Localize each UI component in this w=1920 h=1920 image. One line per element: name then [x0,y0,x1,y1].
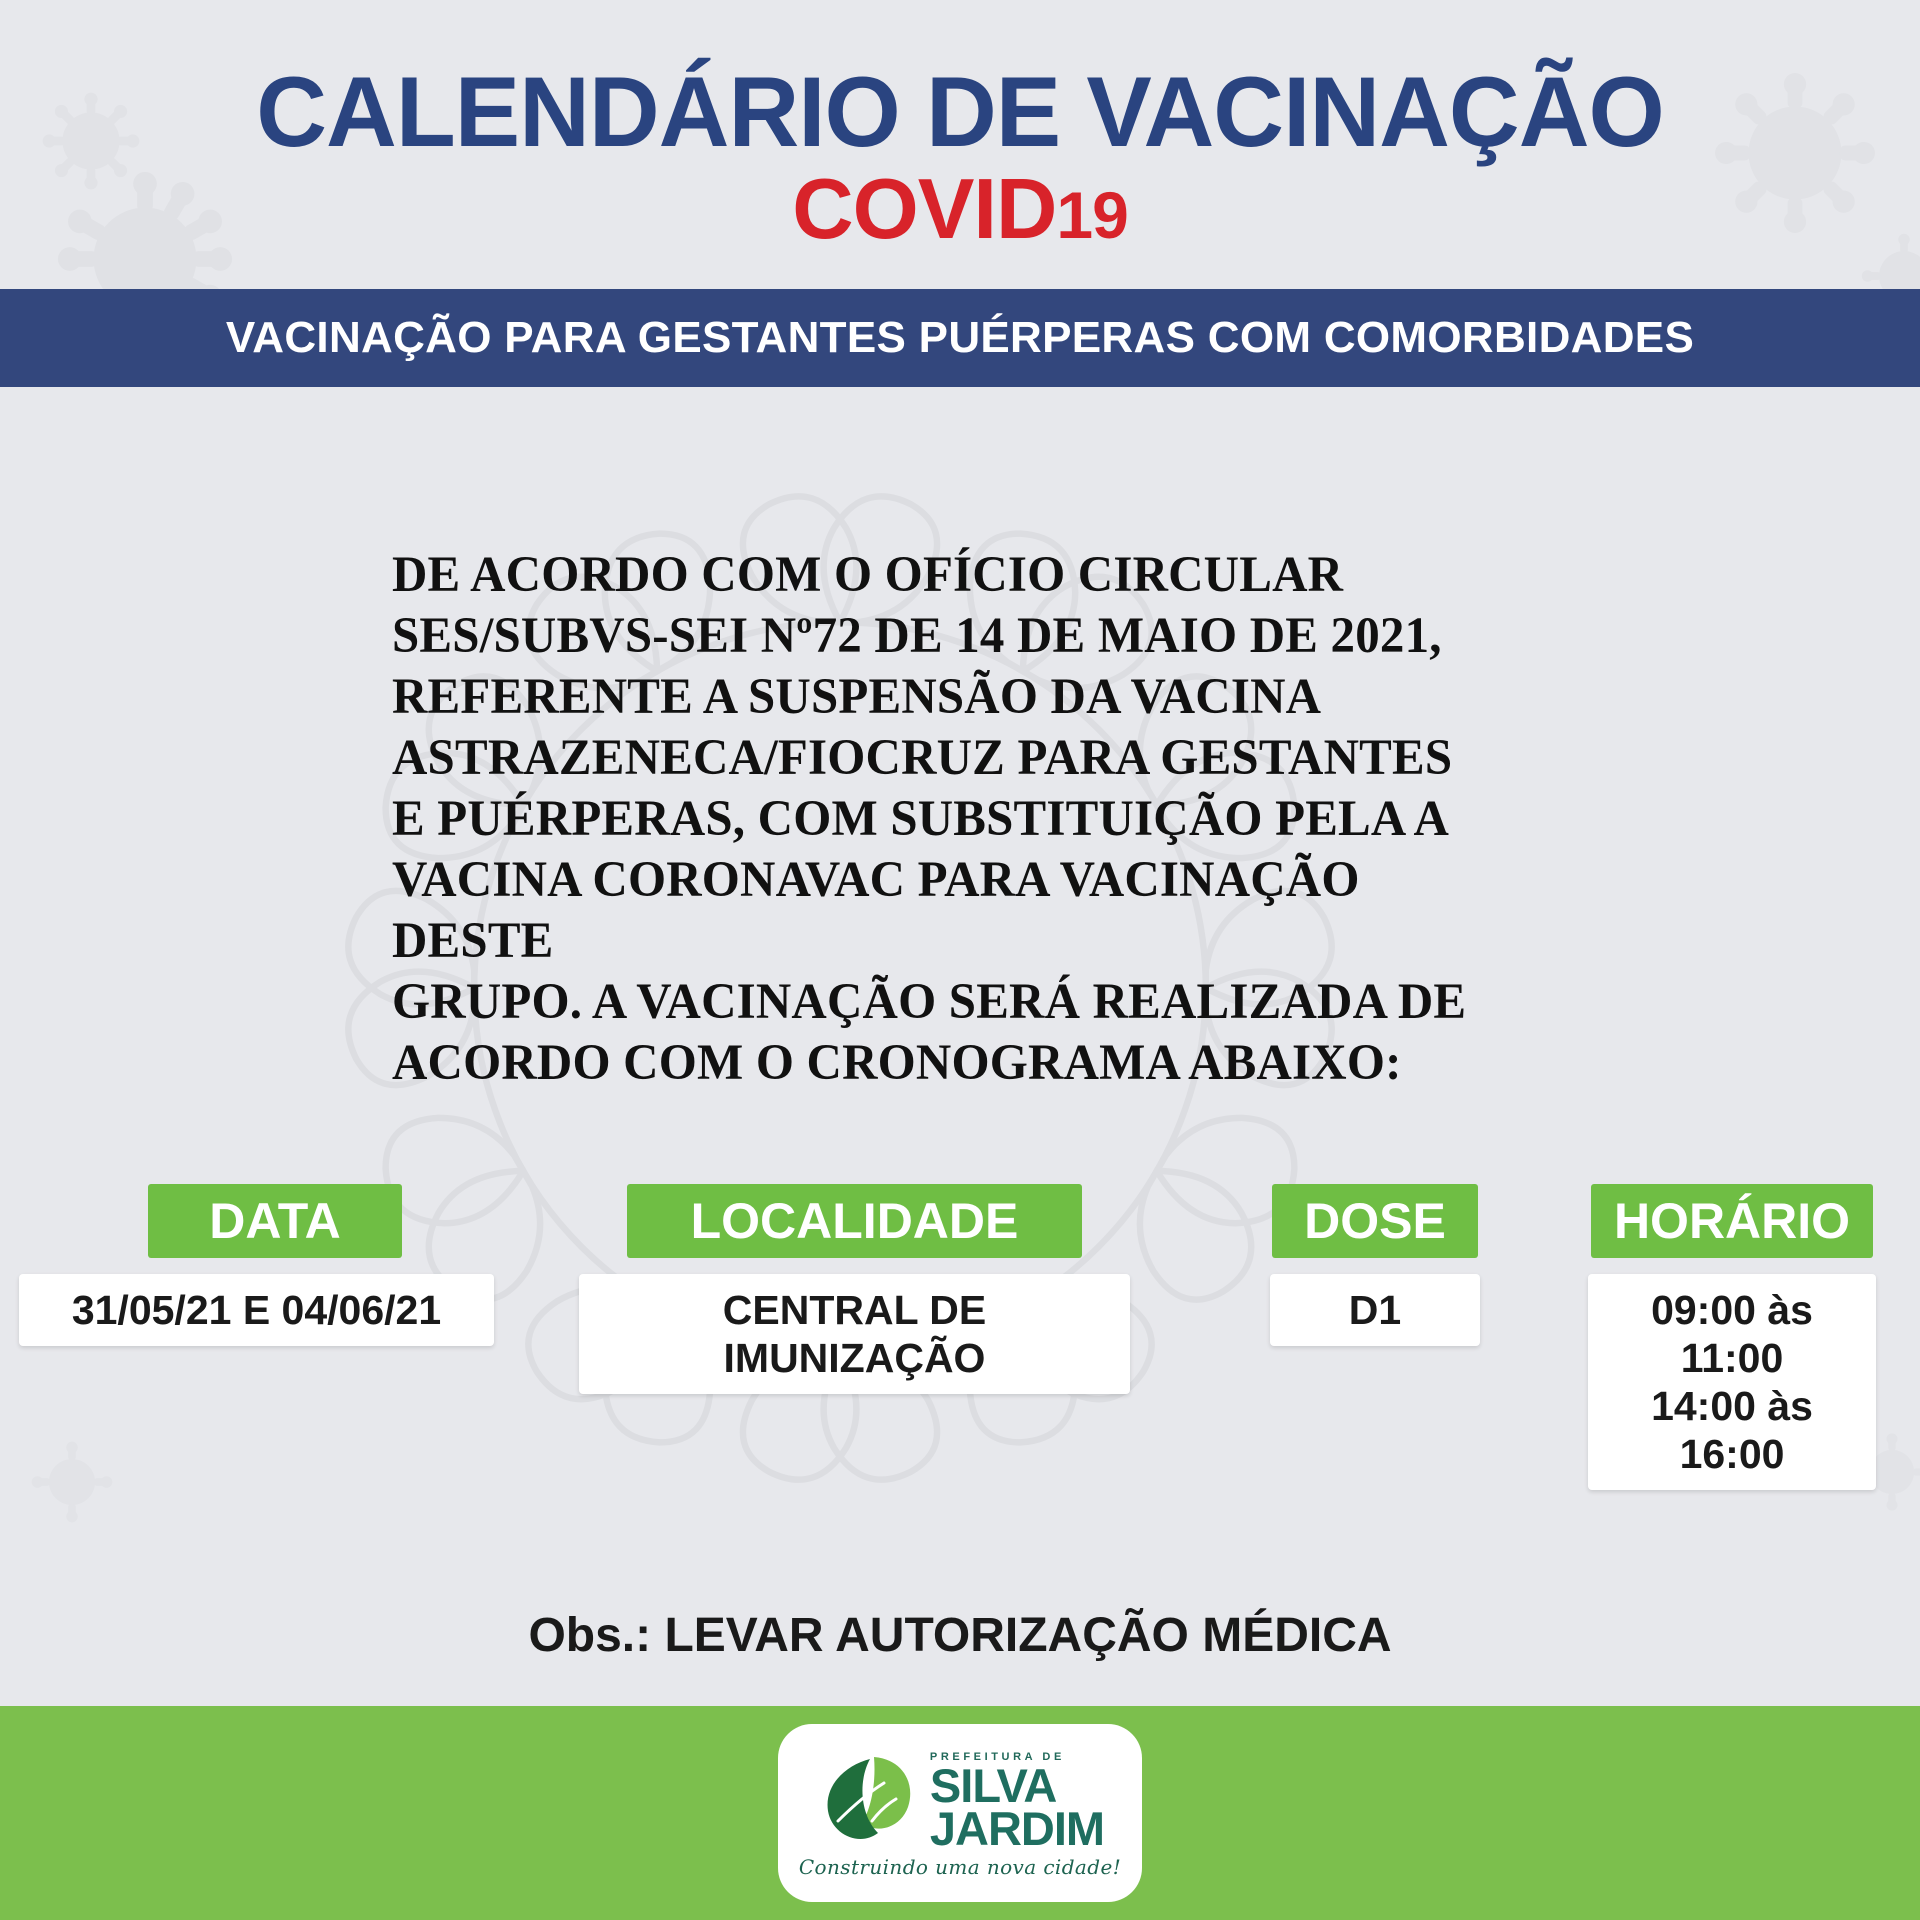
schedule-column-localidade: LOCALIDADE CENTRAL DE IMUNIZAÇÃO [627,1184,1082,1394]
column-header-localidade: LOCALIDADE [627,1184,1082,1258]
logo-wordmark: PREFEITURA DE SILVA JARDIM [930,1752,1104,1850]
column-value-horario: 09:00 às 11:00 14:00 às 16:00 [1588,1274,1876,1490]
poster-footer: PREFEITURA DE SILVA JARDIM Construindo u… [0,1706,1920,1920]
covid-word: COVID [792,162,1056,257]
observation-note: Obs.: LEVAR AUTORIZAÇÃO MÉDICA [0,1608,1920,1663]
column-value-dose: D1 [1270,1274,1480,1346]
schedule-table: DATA 31/05/21 E 04/06/21 LOCALIDADE CENT… [0,1184,1920,1434]
audience-banner-text: VACINAÇÃO PARA GESTANTES PUÉRPERAS COM C… [226,313,1694,363]
column-header-horario: HORÁRIO [1591,1184,1873,1258]
covid-number: 19 [1056,178,1127,252]
column-header-dose: DOSE [1272,1184,1478,1258]
audience-banner: VACINAÇÃO PARA GESTANTES PUÉRPERAS COM C… [0,289,1920,387]
column-value-localidade: CENTRAL DE IMUNIZAÇÃO [579,1274,1130,1394]
logo-name-line2: JARDIM [930,1807,1104,1850]
prefecture-logo: PREFEITURA DE SILVA JARDIM Construindo u… [778,1724,1142,1902]
column-value-data: 31/05/21 E 04/06/21 [19,1274,494,1346]
poster-header: CALENDÁRIO DE VACINAÇÃO COVID19 [0,0,1920,252]
column-header-data: DATA [148,1184,402,1258]
vaccination-calendar-poster: CALENDÁRIO DE VACINAÇÃO COVID19 VACINAÇÃ… [0,0,1920,1920]
schedule-column-data: DATA 31/05/21 E 04/06/21 [148,1184,402,1346]
page-subtitle: COVID19 [0,161,1920,252]
logo-tagline: Construindo uma nova cidade! [799,1855,1121,1879]
notice-paragraph: DE ACORDO COM O OFÍCIO CIRCULAR SES/SUBV… [392,545,1486,1094]
schedule-column-horario: HORÁRIO 09:00 às 11:00 14:00 às 16:00 [1591,1184,1873,1490]
schedule-column-dose: DOSE D1 [1272,1184,1478,1346]
leaf-icon [816,1749,924,1853]
virus-particle-icon [24,1434,120,1530]
logo-name-line1: SILVA [930,1765,1056,1806]
logo-row: PREFEITURA DE SILVA JARDIM [816,1749,1104,1853]
page-title: CALENDÁRIO DE VACINAÇÃO [10,0,1911,161]
